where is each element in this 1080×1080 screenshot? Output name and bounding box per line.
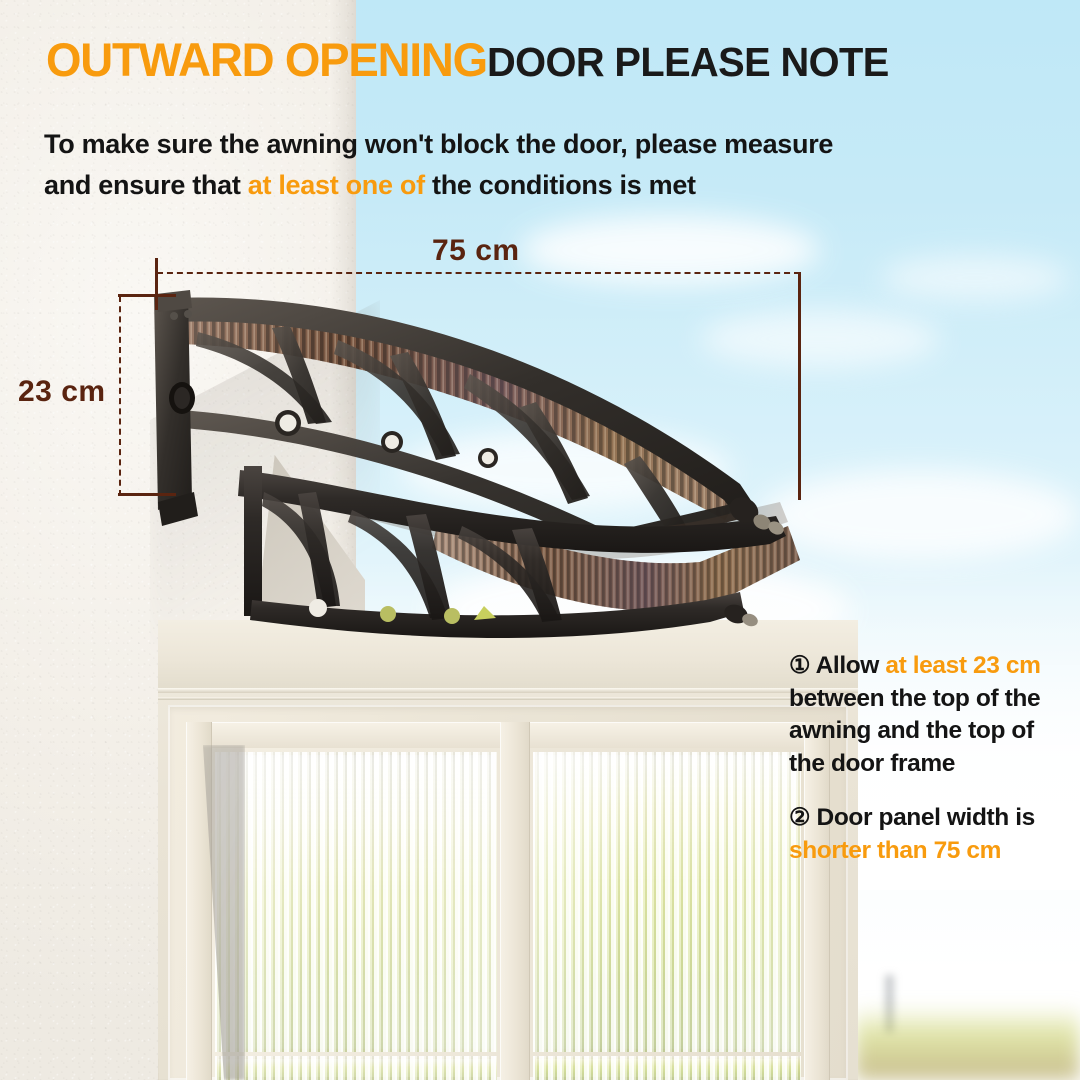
headline-rest: DOOR PLEASE NOTE (487, 39, 889, 85)
door-glass-pane-left (215, 752, 497, 1052)
condition-2-highlight-b: 75 cm (934, 837, 1001, 864)
subtitle-line-1: To make sure the awning won't block the … (44, 129, 833, 159)
cloud (880, 255, 1070, 301)
conditions-list: ① Allow at least 23 cm between the top o… (789, 650, 1069, 889)
condition-item-2: ② Door panel width is shorter than 75 cm (789, 802, 1069, 867)
door-glass-pane-right (533, 752, 801, 1052)
dimension-cap-bottom (118, 493, 176, 496)
condition-marker-2: ② (789, 804, 810, 831)
reeded-glass-texture (533, 1056, 801, 1080)
door-glass-pane-lower-left (215, 1056, 497, 1080)
condition-2-seg1: Door panel width is (810, 804, 1035, 831)
lintel-molding (158, 688, 858, 693)
dimension-line-height (119, 296, 121, 496)
dimension-tick-left (155, 258, 158, 310)
foliage-blur-secondary (855, 1005, 1080, 1080)
subtitle-highlight: at least one of (248, 170, 425, 200)
subtitle: To make sure the awning won't block the … (44, 124, 1004, 206)
condition-1-highlight-b: 23 cm (973, 652, 1040, 679)
page-title: OUTWARD OPENINGDOOR PLEASE NOTE (46, 36, 1016, 85)
condition-1-highlight-a: at least (885, 652, 966, 679)
dimension-label-width: 75 cm (432, 234, 520, 268)
awning-illustration (140, 270, 820, 640)
infographic-canvas: 75 cm 23 cm OUTWARD OPENINGDOOR PLEASE N… (0, 0, 1080, 1080)
door-glass-pane-lower-right (533, 1056, 801, 1080)
headline-highlight: OUTWARD OPENING (46, 33, 487, 86)
dimension-label-height: 23 cm (18, 375, 106, 409)
condition-item-1: ① Allow at least 23 cm between the top o… (789, 650, 1069, 780)
dimension-line-width (157, 272, 800, 274)
dimension-extension-right (798, 272, 801, 500)
subtitle-line-2-pre: and ensure that (44, 170, 248, 200)
condition-1-seg4: between the top of the awning and the to… (789, 685, 1040, 777)
condition-marker-1: ① (789, 652, 810, 679)
reeded-glass-texture (215, 1056, 497, 1080)
lintel-molding (158, 697, 858, 700)
door-stile-center (500, 722, 530, 1080)
condition-2-highlight-a: shorter than (789, 837, 927, 864)
condition-1-seg1: Allow (810, 652, 885, 679)
subtitle-line-2-post: the conditions is met (425, 170, 696, 200)
pane-sheen (533, 752, 801, 1052)
pane-sheen (215, 752, 497, 1052)
dimension-cap-top (118, 294, 176, 297)
